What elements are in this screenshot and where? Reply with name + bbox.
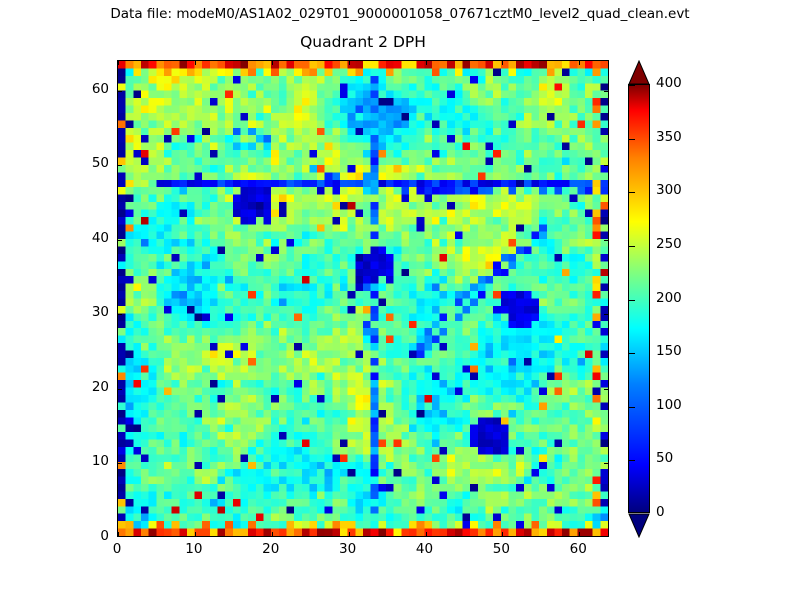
y-tick-mark	[118, 463, 122, 464]
y-tick-label: 60	[69, 82, 109, 97]
figure-suptitle: Data file: modeM0/AS1A02_029T01_90000010…	[0, 6, 800, 22]
x-tick-label: 40	[405, 542, 445, 557]
x-tick-label: 0	[97, 542, 137, 557]
heatmap-image	[118, 61, 608, 536]
x-tick-mark	[579, 532, 580, 536]
y-tick-label: 0	[69, 529, 109, 544]
colorbar-tick-mark	[629, 407, 635, 408]
y-tick-mark	[118, 240, 122, 241]
figure-canvas: Data file: modeM0/AS1A02_029T01_90000010…	[0, 0, 800, 600]
x-tick-mark	[118, 532, 119, 536]
x-tick-mark	[579, 61, 580, 65]
colorbar-tick-label: 0	[656, 505, 665, 520]
x-tick-label: 50	[481, 542, 521, 557]
colorbar	[628, 60, 650, 537]
colorbar-tick-mark	[629, 139, 635, 140]
y-tick-label: 40	[69, 231, 109, 246]
colorbar-tick-mark	[629, 192, 635, 193]
axes-title: Quadrant 2 DPH	[117, 33, 609, 51]
colorbar-tick-label: 350	[656, 130, 682, 145]
colorbar-tick-label: 50	[656, 451, 673, 466]
x-tick-mark	[195, 532, 196, 536]
heatmap-axes	[117, 60, 609, 537]
x-tick-label: 60	[558, 542, 598, 557]
y-tick-mark	[604, 240, 608, 241]
colorbar-tick-label: 250	[656, 237, 682, 252]
y-tick-mark	[118, 91, 122, 92]
y-tick-mark	[604, 314, 608, 315]
colorbar-tick-mark	[629, 460, 635, 461]
colorbar-tick-mark	[629, 353, 635, 354]
x-tick-mark	[272, 61, 273, 65]
colorbar-gradient-body	[628, 84, 650, 513]
x-tick-label: 20	[251, 542, 291, 557]
y-tick-label: 20	[69, 380, 109, 395]
y-tick-mark	[604, 389, 608, 390]
y-tick-mark	[604, 91, 608, 92]
x-tick-label: 30	[328, 542, 368, 557]
y-tick-label: 50	[69, 156, 109, 171]
colorbar-tick-mark	[629, 300, 635, 301]
y-tick-label: 30	[69, 305, 109, 320]
x-tick-mark	[195, 61, 196, 65]
y-tick-mark	[118, 165, 122, 166]
x-tick-mark	[349, 61, 350, 65]
y-tick-label: 10	[69, 454, 109, 469]
colorbar-tick-label: 200	[656, 291, 682, 306]
x-tick-mark	[502, 532, 503, 536]
colorbar-tick-mark	[629, 246, 635, 247]
x-tick-mark	[272, 532, 273, 536]
y-tick-mark	[118, 389, 122, 390]
y-tick-mark	[604, 463, 608, 464]
colorbar-tick-label: 100	[656, 398, 682, 413]
colorbar-extend-bottom-icon	[628, 513, 650, 538]
x-tick-mark	[349, 532, 350, 536]
colorbar-tick-mark	[629, 85, 635, 86]
colorbar-tick-label: 150	[656, 344, 682, 359]
colorbar-extend-top-icon	[628, 60, 650, 85]
x-tick-mark	[426, 532, 427, 536]
x-tick-mark	[502, 61, 503, 65]
x-tick-mark	[118, 61, 119, 65]
x-tick-label: 10	[174, 542, 214, 557]
y-tick-mark	[604, 165, 608, 166]
x-tick-mark	[426, 61, 427, 65]
colorbar-tick-label: 300	[656, 183, 682, 198]
y-tick-mark	[118, 314, 122, 315]
colorbar-gradient	[629, 85, 649, 512]
colorbar-tick-label: 400	[656, 76, 682, 91]
